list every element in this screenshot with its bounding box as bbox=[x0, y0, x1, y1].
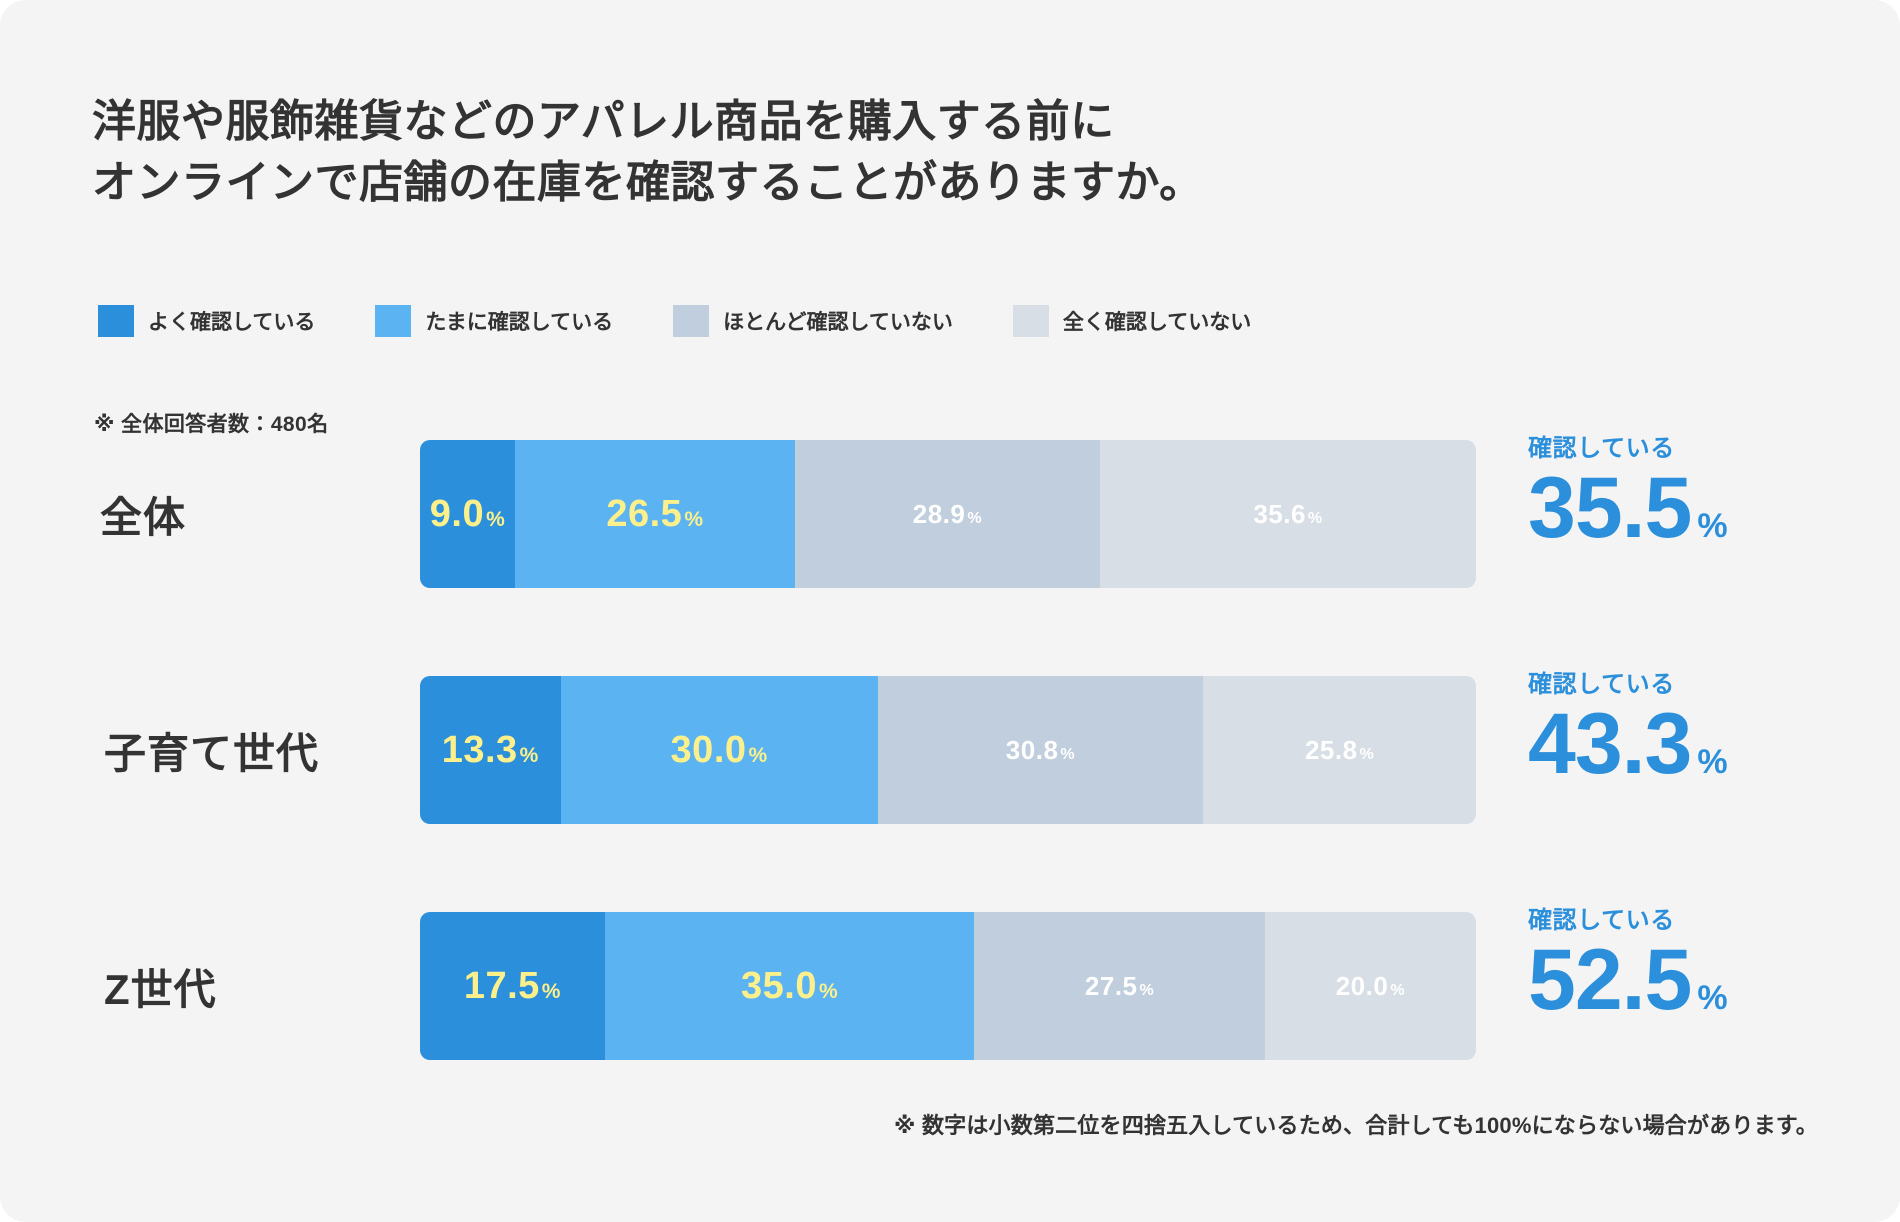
bar-segment-2-0: 17.5% bbox=[420, 912, 605, 1060]
row-summary-caption-0: 確認している bbox=[1528, 428, 1858, 463]
legend-swatch-icon-1 bbox=[375, 305, 411, 337]
legend-item-3: 全く確認していない bbox=[1013, 305, 1251, 337]
row-summary-2: 確認している 52.5 % bbox=[1528, 900, 1858, 1023]
bar-segment-value-2-2: 27.5% bbox=[1085, 973, 1154, 999]
bar-segment-0-3: 35.6% bbox=[1100, 440, 1476, 588]
bar-segment-1-2: 30.8% bbox=[878, 676, 1204, 824]
bar-segment-0-0: 9.0% bbox=[420, 440, 515, 588]
bar-segment-value-1-2: 30.8% bbox=[1006, 737, 1075, 763]
row-label-0: 全体 bbox=[100, 440, 420, 588]
bar-segment-value-1-0: 13.3% bbox=[442, 731, 539, 769]
sample-size-note: ※ 全体回答者数：480名 bbox=[94, 408, 329, 438]
bar-segment-value-0-3: 35.6% bbox=[1253, 501, 1322, 527]
chart-canvas: 洋服や服飾雑貨などのアパレル商品を購入する前に オンラインで店舗の在庫を確認する… bbox=[0, 0, 1900, 1222]
row-summary-caption-1: 確認している bbox=[1528, 664, 1858, 699]
bar-segment-value-2-1: 35.0% bbox=[741, 967, 838, 1005]
row-summary-value-0: 35.5 % bbox=[1528, 465, 1858, 551]
legend-swatch-icon-2 bbox=[673, 305, 709, 337]
bar-segment-2-2: 27.5% bbox=[974, 912, 1264, 1060]
bar-segment-2-1: 35.0% bbox=[605, 912, 975, 1060]
row-summary-number-2: 52.5 bbox=[1528, 937, 1691, 1023]
bar-segment-value-0-2: 28.9% bbox=[913, 501, 982, 527]
legend-label-1: たまに確認している bbox=[425, 306, 613, 336]
stacked-bar-2: 17.5% 35.0% 27.5% 20.0% bbox=[420, 912, 1476, 1060]
title-line-2: オンラインで店舗の在庫を確認することがありますか。 bbox=[92, 153, 1392, 214]
bar-segment-1-0: 13.3% bbox=[420, 676, 561, 824]
chart-footnote: ※ 数字は小数第二位を四捨五入しているため、合計しても100%にならない場合があ… bbox=[894, 1108, 1818, 1140]
legend-swatch-icon-0 bbox=[98, 305, 134, 337]
bar-segment-2-3: 20.0% bbox=[1265, 912, 1476, 1060]
bar-segment-value-1-3: 25.8% bbox=[1305, 737, 1374, 763]
legend-item-0: よく確認している bbox=[98, 305, 315, 337]
row-label-1: 子育て世代 bbox=[104, 676, 424, 824]
table-row: 全体 9.0% 26.5% 28.9% 35.6% 確認している 35.5 bbox=[0, 440, 1900, 676]
row-summary-value-2: 52.5 % bbox=[1528, 937, 1858, 1023]
legend-item-1: たまに確認している bbox=[375, 305, 613, 337]
legend-swatch-icon-3 bbox=[1013, 305, 1049, 337]
table-row: 子育て世代 13.3% 30.0% 30.8% 25.8% 確認している 43. bbox=[0, 676, 1900, 912]
row-summary-value-1: 43.3 % bbox=[1528, 701, 1858, 787]
row-label-2: Z世代 bbox=[104, 912, 424, 1060]
bar-segment-value-2-3: 20.0% bbox=[1336, 973, 1405, 999]
page-title: 洋服や服飾雑貨などのアパレル商品を購入する前に オンラインで店舗の在庫を確認する… bbox=[92, 92, 1392, 213]
bar-segment-value-0-0: 9.0% bbox=[430, 495, 506, 533]
legend-label-0: よく確認している bbox=[148, 306, 315, 336]
row-summary-percent-0: % bbox=[1697, 509, 1727, 543]
legend-label-2: ほとんど確認していない bbox=[723, 306, 953, 336]
stacked-bar-0: 9.0% 26.5% 28.9% 35.6% bbox=[420, 440, 1476, 588]
bar-segment-value-1-1: 30.0% bbox=[671, 731, 768, 769]
bar-segment-0-2: 28.9% bbox=[795, 440, 1100, 588]
bar-segment-0-1: 26.5% bbox=[515, 440, 795, 588]
bar-segment-value-2-0: 17.5% bbox=[464, 967, 561, 1005]
bar-segment-value-0-1: 26.5% bbox=[606, 495, 703, 533]
row-summary-caption-2: 確認している bbox=[1528, 900, 1858, 935]
chart-legend: よく確認している たまに確認している ほとんど確認していない 全く確認していない bbox=[98, 305, 1311, 337]
bar-rows: 全体 9.0% 26.5% 28.9% 35.6% 確認している 35.5 bbox=[0, 440, 1900, 1148]
row-summary-0: 確認している 35.5 % bbox=[1528, 428, 1858, 551]
row-summary-1: 確認している 43.3 % bbox=[1528, 664, 1858, 787]
row-summary-percent-1: % bbox=[1697, 745, 1727, 779]
row-summary-number-1: 43.3 bbox=[1528, 701, 1691, 787]
title-line-1: 洋服や服飾雑貨などのアパレル商品を購入する前に bbox=[92, 92, 1392, 153]
bar-segment-1-1: 30.0% bbox=[561, 676, 878, 824]
bar-segment-1-3: 25.8% bbox=[1203, 676, 1476, 824]
legend-item-2: ほとんど確認していない bbox=[673, 305, 953, 337]
row-summary-number-0: 35.5 bbox=[1528, 465, 1691, 551]
stacked-bar-1: 13.3% 30.0% 30.8% 25.8% bbox=[420, 676, 1476, 824]
row-summary-percent-2: % bbox=[1697, 981, 1727, 1015]
legend-label-3: 全く確認していない bbox=[1063, 306, 1251, 336]
